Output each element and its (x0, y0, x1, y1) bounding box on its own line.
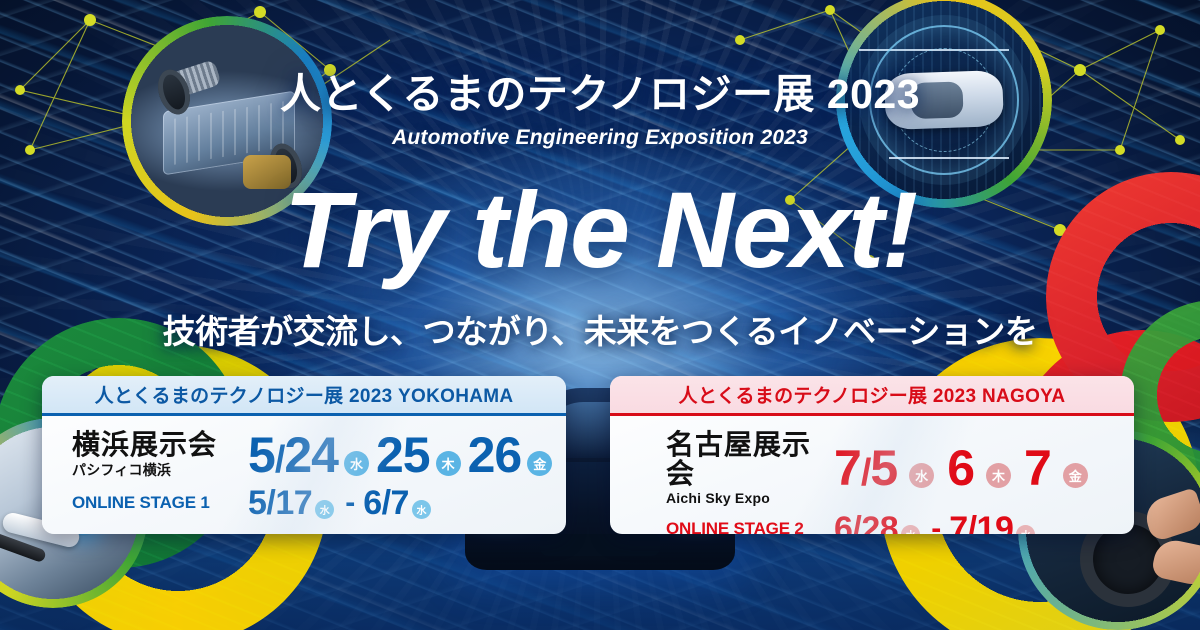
stage-end-yokohama: 6/7 (363, 486, 409, 520)
stage-end-nagoya: 7/19 (949, 512, 1013, 534)
stage-start-yokohama: 5/17 (248, 486, 312, 520)
venue-place-yokohama: パシフィコ横浜 (72, 460, 248, 480)
catchphrase: Try the Next! (0, 176, 1200, 284)
dow-badge-1-nagoya: 水 (909, 463, 934, 488)
stage-start-nagoya: 6/28 (834, 512, 898, 534)
date-3-yokohama: 26 (468, 430, 522, 480)
online-stage-label-yokohama: ONLINE STAGE 1 (72, 493, 248, 513)
stage-start-dow-yokohama: 水 (315, 500, 334, 519)
dow-badge-2-nagoya: 木 (986, 463, 1011, 488)
banner-root: 人とくるまのテクノロジー展 2023 Automotive Engineerin… (0, 0, 1200, 630)
stage-end-dow-yokohama: 水 (412, 500, 431, 519)
exhibition-dates-yokohama: 5/24 水 25 木 26 金 (248, 430, 557, 480)
venue-block-nagoya: 名古屋展示会 Aichi Sky Expo (666, 430, 834, 506)
stage-start-dow-nagoya: 水 (901, 525, 920, 534)
card-header-yokohama: 人とくるまのテクノロジー展 2023 YOKOHAMA (42, 376, 566, 416)
event-card-yokohama[interactable]: 人とくるまのテクノロジー展 2023 YOKOHAMA 横浜展示会 パシフィコ横… (42, 376, 566, 534)
online-stage-row-nagoya: ONLINE STAGE 2 6/28 水 - 7/19 水 (610, 512, 1134, 534)
dow-badge-1-yokohama: 水 (344, 451, 369, 476)
card-header-nagoya: 人とくるまのテクノロジー展 2023 NAGOYA (610, 376, 1134, 416)
card-body-nagoya: 名古屋展示会 Aichi Sky Expo 7/5 水 6 木 7 金 ONLI… (610, 416, 1134, 534)
stage-end-dow-nagoya: 水 (1016, 525, 1035, 534)
date-2-nagoya: 6 (947, 443, 974, 493)
venue-name-yokohama: 横浜展示会 (72, 430, 248, 459)
title-block: 人とくるまのテクノロジー展 2023 Automotive Engineerin… (0, 72, 1200, 150)
date-2-yokohama: 25 (376, 430, 430, 480)
venue-place-nagoya: Aichi Sky Expo (666, 490, 834, 506)
page-subtitle: Automotive Engineering Exposition 2023 (0, 126, 1200, 150)
date-1-yokohama: 5/24 (248, 430, 338, 480)
venue-block-yokohama: 横浜展示会 パシフィコ横浜 (72, 430, 248, 480)
date-1-nagoya: 7/5 (834, 443, 897, 493)
venue-date-row-nagoya: 名古屋展示会 Aichi Sky Expo 7/5 水 6 木 7 金 (610, 430, 1134, 506)
card-body-yokohama: 横浜展示会 パシフィコ横浜 5/24 水 25 木 26 金 ONLINE ST… (42, 416, 566, 534)
date-3-nagoya: 7 (1024, 443, 1051, 493)
stage-dash-nagoya: - (931, 512, 941, 534)
exhibition-dates-nagoya: 7/5 水 6 木 7 金 (834, 443, 1093, 493)
event-card-nagoya[interactable]: 人とくるまのテクノロジー展 2023 NAGOYA 名古屋展示会 Aichi S… (610, 376, 1134, 534)
online-stage-dates-nagoya: 6/28 水 - 7/19 水 (834, 512, 1038, 534)
dow-badge-2-yokohama: 木 (436, 451, 461, 476)
venue-name-nagoya: 名古屋展示会 (666, 430, 834, 489)
lead-copy: 技術者が交流し、つながり、未来をつくるイノベーションを (0, 305, 1200, 353)
venue-date-row-yokohama: 横浜展示会 パシフィコ横浜 5/24 水 25 木 26 金 (42, 430, 566, 480)
dow-badge-3-yokohama: 金 (527, 451, 552, 476)
stage-dash-yokohama: - (345, 486, 355, 520)
online-stage-row-yokohama: ONLINE STAGE 1 5/17 水 - 6/7 水 (42, 486, 566, 520)
page-title: 人とくるまのテクノロジー展 2023 (0, 72, 1200, 117)
online-stage-label-nagoya: ONLINE STAGE 2 (666, 519, 834, 534)
online-stage-dates-yokohama: 5/17 水 - 6/7 水 (248, 486, 434, 520)
dow-badge-3-nagoya: 金 (1063, 463, 1088, 488)
